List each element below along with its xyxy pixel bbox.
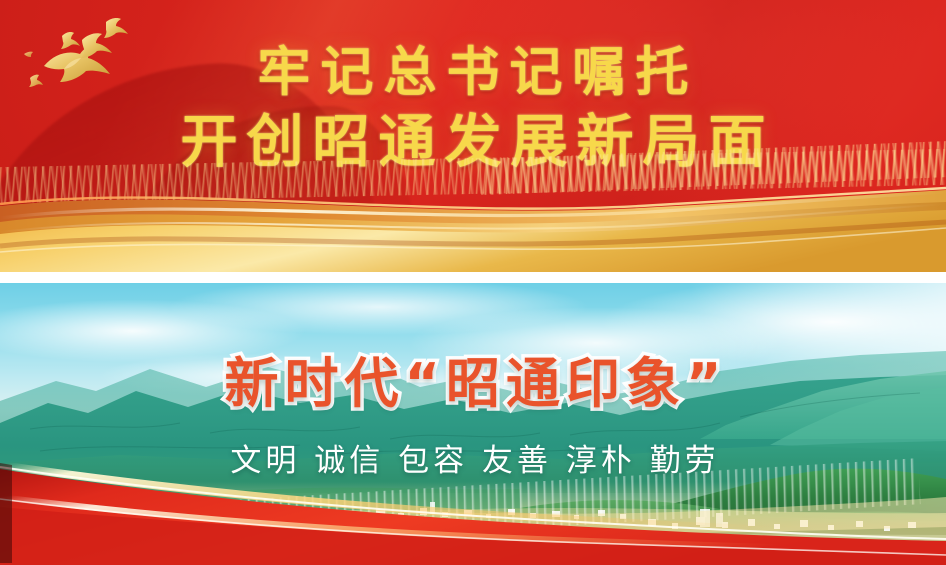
red-ribbon-swoosh xyxy=(0,435,946,565)
red-banner-title: 牢记总书记嘱托 开创昭通发展新局面 xyxy=(0,46,946,170)
banner-divider xyxy=(0,272,946,283)
zhaotong-impression-banner: 新时代“昭通印象” 文明 诚信 包容 友善 淳朴 勤劳 xyxy=(0,283,946,565)
scenic-banner-title: 新时代“昭通印象” xyxy=(0,339,946,418)
gold-ribbon-waves xyxy=(0,160,946,272)
red-propaganda-banner: 牢记总书记嘱托 开创昭通发展新局面 xyxy=(0,0,946,272)
red-title-line-1: 牢记总书记嘱托 xyxy=(0,46,946,99)
poster-root: 牢记总书记嘱托 开创昭通发展新局面 xyxy=(0,0,946,565)
